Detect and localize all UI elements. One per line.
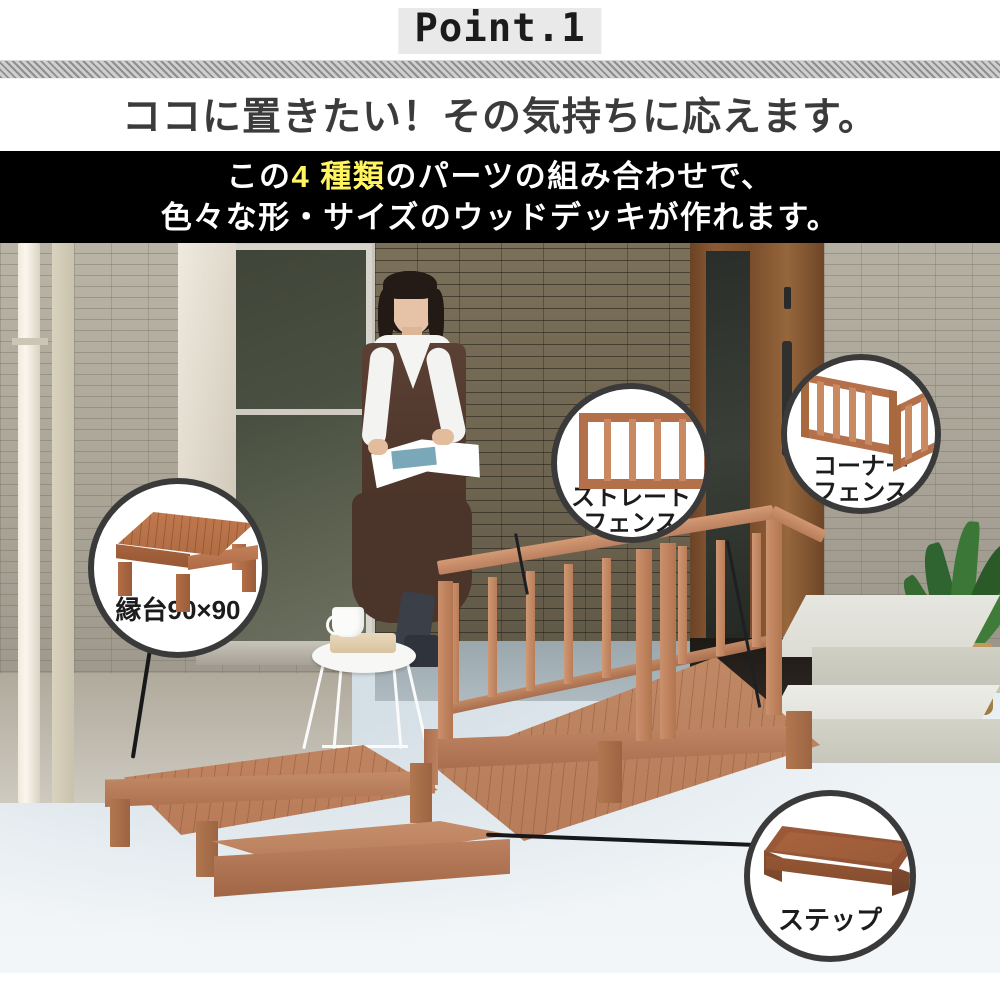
corner-fence-illustration xyxy=(801,382,941,474)
black-message-band: この4 種類のパーツの組み合わせで、 色々な形・サイズのウッドデッキが作れます。 xyxy=(0,151,1000,243)
fence-bottom-rail xyxy=(579,479,711,489)
railing-post xyxy=(766,515,782,715)
railing-post xyxy=(438,581,453,739)
fence-post xyxy=(889,390,897,456)
corner-fence-art xyxy=(787,360,935,454)
concrete-step-lower-face xyxy=(794,719,1000,763)
fence-post xyxy=(801,373,809,439)
railing-baluster xyxy=(488,577,497,697)
coffee-cup xyxy=(332,607,364,637)
entry-door-lock xyxy=(784,287,791,309)
railing-baluster xyxy=(752,533,761,647)
fence-baluster xyxy=(654,419,661,481)
point-badge: Point.1 xyxy=(398,8,601,54)
page-title: ココに置きたい！その気持ちに応えます。 xyxy=(0,78,1000,150)
deck-leg xyxy=(598,741,622,803)
railing-baluster xyxy=(678,546,687,664)
deck-leg xyxy=(110,799,130,847)
wall-corner-trim xyxy=(52,243,74,803)
striped-divider xyxy=(0,60,1000,79)
straight-fence-illustration xyxy=(579,413,711,489)
callout-step[interactable]: ステップ xyxy=(744,790,916,962)
fence-baluster xyxy=(604,419,611,481)
fence-baluster xyxy=(921,396,928,453)
callout-label-straight-fence: ストレート フェンス xyxy=(571,485,691,538)
callout-corner-fence[interactable]: コーナー フェンス xyxy=(781,354,941,514)
straight-fence-art xyxy=(557,389,705,485)
bench-leg xyxy=(176,574,190,612)
step-art xyxy=(750,796,910,906)
step-side-face xyxy=(892,866,916,896)
band-line-1-highlight: 4 種類 xyxy=(292,156,386,197)
railing-post xyxy=(660,543,676,739)
corner-fence-panel-left xyxy=(801,373,897,456)
callout-label-step: ステップ xyxy=(778,906,882,935)
header-point-area: Point.1 xyxy=(0,0,1000,62)
bench-illustration xyxy=(112,512,260,590)
corner-fence-panel-right xyxy=(893,380,941,471)
fence-baluster xyxy=(849,387,856,442)
fence-baluster xyxy=(679,419,686,481)
fence-top-rail xyxy=(579,413,711,422)
deck-leg xyxy=(786,711,812,769)
callout-straight-fence[interactable]: ストレート フェンス xyxy=(551,383,711,543)
person-hand-right xyxy=(432,429,454,445)
railing-baluster xyxy=(564,564,573,684)
bench-leg xyxy=(118,562,132,596)
fence-post xyxy=(579,413,588,489)
band-line-1-before: この xyxy=(227,156,292,197)
entry-door-glass xyxy=(706,251,750,651)
fence-baluster xyxy=(905,403,912,460)
bench-leg xyxy=(242,558,256,592)
band-line-1: この4 種類のパーツの組み合わせで、 xyxy=(227,156,774,197)
callout-engawa[interactable]: 縁台90×90 xyxy=(88,478,268,658)
deck-leg xyxy=(410,763,432,823)
page-root: Point.1 ココに置きたい！その気持ちに応えます。 この4 種類のパーツの組… xyxy=(0,0,1000,1000)
band-line-2: 色々な形・サイズのウッドデッキが作れます。 xyxy=(161,197,839,238)
railing-post xyxy=(636,549,652,741)
step-illustration xyxy=(764,826,916,892)
downpipe xyxy=(18,243,40,803)
railing-baluster xyxy=(716,540,725,656)
fence-baluster xyxy=(629,419,636,481)
railing-baluster xyxy=(602,558,611,678)
wood-bench-art xyxy=(94,484,262,596)
person-hand-left xyxy=(368,439,388,455)
fence-baluster xyxy=(865,390,872,445)
fence-baluster xyxy=(817,381,824,436)
fence-baluster xyxy=(833,384,840,439)
downpipe-clip xyxy=(12,338,48,345)
band-line-1-after: のパーツの組み合わせで、 xyxy=(385,156,773,197)
